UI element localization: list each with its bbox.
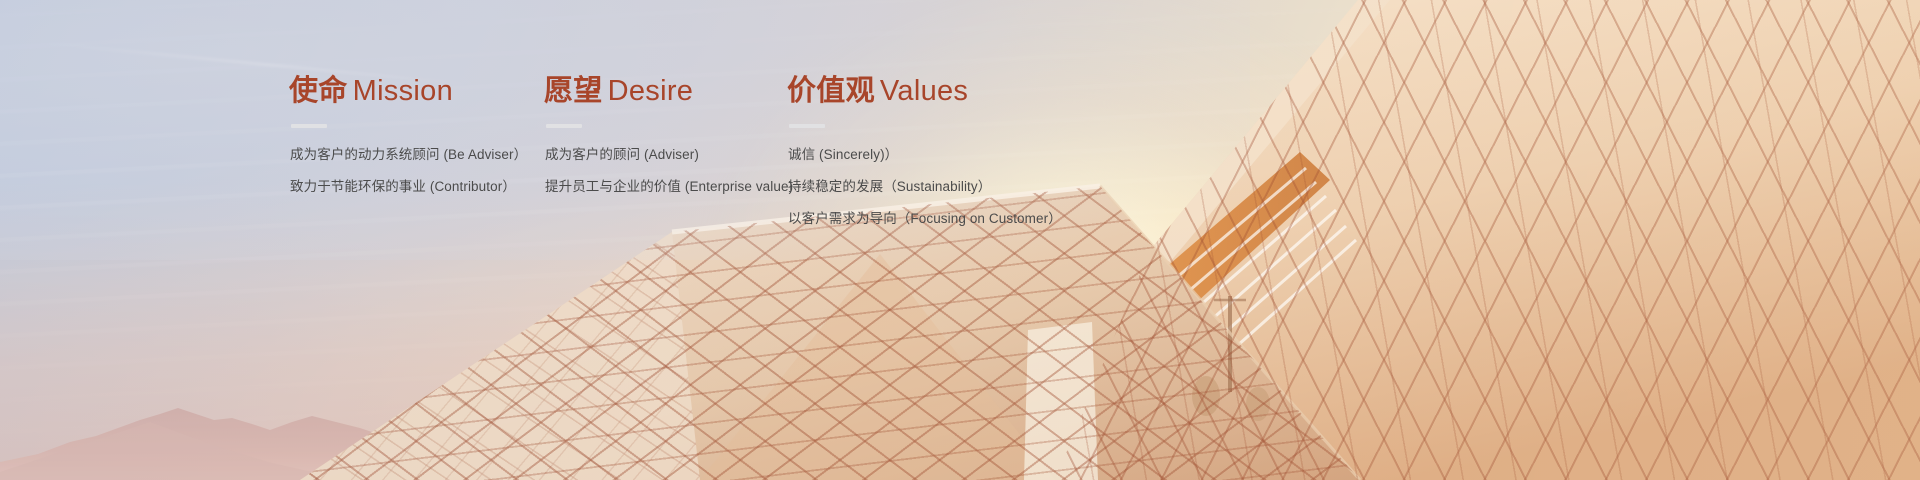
- column-values-title: 价值观Values: [787, 76, 1062, 108]
- column-values-divider: [789, 124, 825, 128]
- column-desire-line-2: 提升员工与企业的价值 (Enterprise value): [545, 178, 793, 196]
- banner-content: 使命Mission 成为客户的动力系统顾问 (Be Adviser） 致力于节能…: [0, 0, 1920, 480]
- hero-banner: 使命Mission 成为客户的动力系统顾问 (Be Adviser） 致力于节能…: [0, 0, 1920, 480]
- column-desire-title-en: Desire: [603, 75, 694, 107]
- column-values-line-3: 以客户需求为导向（Focusing on Customer）: [788, 210, 1062, 228]
- column-values: 价值观Values 诚信 (Sincerely)） 持续稳定的发展（Sustai…: [787, 76, 1062, 229]
- column-mission: 使命Mission 成为客户的动力系统顾问 (Be Adviser） 致力于节能…: [289, 76, 527, 196]
- column-mission-title-cn: 使命: [289, 75, 348, 107]
- column-values-line-2: 持续稳定的发展（Sustainability）: [788, 178, 1062, 196]
- column-mission-line-2: 致力于节能环保的事业 (Contributor）: [290, 178, 527, 196]
- column-mission-title: 使命Mission: [289, 76, 527, 108]
- column-mission-title-en: Mission: [348, 75, 453, 107]
- column-desire-title-cn: 愿望: [544, 75, 603, 107]
- column-desire: 愿望Desire 成为客户的顾问 (Adviser) 提升员工与企业的价值 (E…: [544, 76, 793, 196]
- column-values-title-en: Values: [875, 75, 968, 107]
- column-values-line-1: 诚信 (Sincerely)）: [788, 146, 1062, 164]
- column-desire-line-1: 成为客户的顾问 (Adviser): [545, 146, 793, 164]
- column-desire-divider: [546, 124, 582, 128]
- column-mission-line-1: 成为客户的动力系统顾问 (Be Adviser）: [290, 146, 527, 164]
- column-mission-divider: [291, 124, 327, 128]
- column-values-title-cn: 价值观: [787, 75, 875, 107]
- column-desire-title: 愿望Desire: [544, 76, 793, 108]
